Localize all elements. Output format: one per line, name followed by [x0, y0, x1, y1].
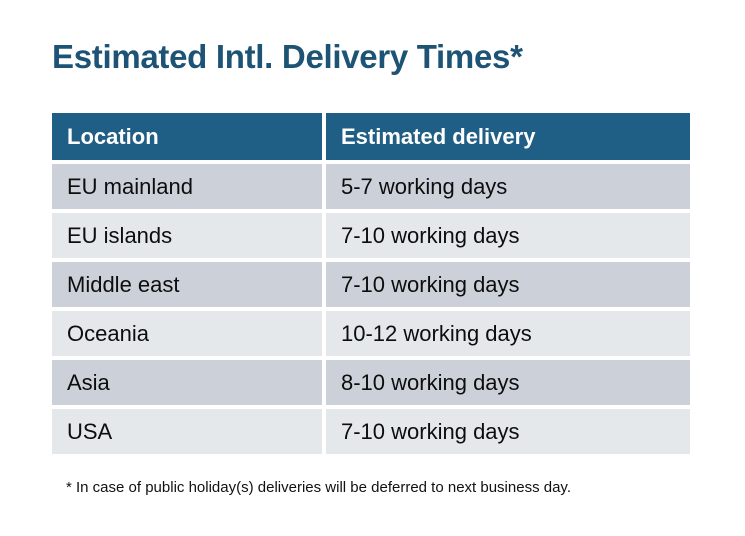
cell-estimated-delivery: 8-10 working days	[326, 360, 690, 405]
table-row: EU islands 7-10 working days	[52, 213, 690, 258]
table-row: Asia 8-10 working days	[52, 360, 690, 405]
cell-estimated-delivery: 7-10 working days	[326, 262, 690, 307]
cell-estimated-delivery: 7-10 working days	[326, 213, 690, 258]
delivery-times-table: Location Estimated delivery EU mainland …	[52, 113, 690, 454]
cell-location: Oceania	[52, 311, 322, 356]
cell-location: EU mainland	[52, 164, 322, 209]
delivery-times-page: Estimated Intl. Delivery Times* Location…	[0, 0, 745, 536]
footnote-text: * In case of public holiday(s) deliverie…	[66, 479, 571, 496]
cell-location: Asia	[52, 360, 322, 405]
cell-estimated-delivery: 7-10 working days	[326, 409, 690, 454]
table-row: Oceania 10-12 working days	[52, 311, 690, 356]
table-row: USA 7-10 working days	[52, 409, 690, 454]
cell-estimated-delivery: 5-7 working days	[326, 164, 690, 209]
cell-location: USA	[52, 409, 322, 454]
column-header-estimated-delivery: Estimated delivery	[326, 113, 690, 160]
table-row: EU mainland 5-7 working days	[52, 164, 690, 209]
table-row: Middle east 7-10 working days	[52, 262, 690, 307]
cell-location: Middle east	[52, 262, 322, 307]
cell-location: EU islands	[52, 213, 322, 258]
column-header-location: Location	[52, 113, 322, 160]
table-header-row: Location Estimated delivery	[52, 113, 690, 160]
page-title: Estimated Intl. Delivery Times*	[52, 38, 523, 76]
cell-estimated-delivery: 10-12 working days	[326, 311, 690, 356]
